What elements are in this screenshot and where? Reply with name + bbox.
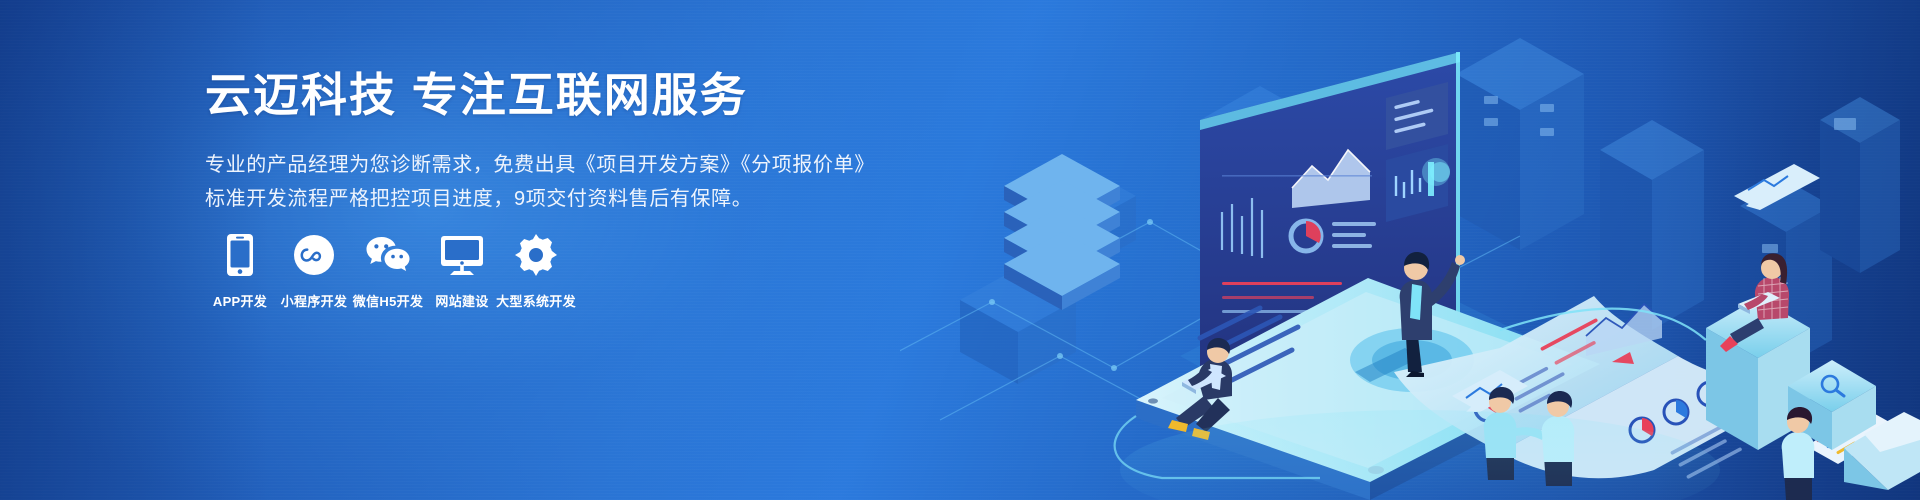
server-stack xyxy=(1004,154,1120,310)
subtitle-line-1: 专业的产品经理为您诊断需求，免费出具《项目开发方案》《分项报价单》 xyxy=(205,150,965,181)
mini-program-icon xyxy=(294,232,334,278)
service-label: 大型系统开发 xyxy=(496,294,576,310)
service-label: 小程序开发 xyxy=(281,294,348,310)
service-label: 网站建设 xyxy=(435,294,488,310)
service-item-website[interactable]: 网站建设 xyxy=(425,232,499,310)
wechat-icon xyxy=(365,232,411,278)
service-label: 微信H5开发 xyxy=(353,294,423,310)
isometric-tech-illustration xyxy=(900,0,1920,500)
service-item-wechat-h5[interactable]: 微信H5开发 xyxy=(351,232,425,310)
banner-copy: 云迈科技 专注互联网服务 专业的产品经理为您诊断需求，免费出具《项目开发方案》《… xyxy=(205,66,965,215)
subtitle-line-2: 标准开发流程严格把控项目进度，9项交付资料售后有保障。 xyxy=(205,184,965,215)
service-item-app[interactable]: APP开发 xyxy=(203,232,277,310)
monitor-icon xyxy=(440,232,484,278)
service-item-miniprogram[interactable]: 小程序开发 xyxy=(277,232,351,310)
gear-icon xyxy=(515,232,557,278)
service-label: APP开发 xyxy=(213,294,267,310)
mobile-phone-icon xyxy=(227,232,253,278)
page-title: 云迈科技 专注互联网服务 xyxy=(205,66,965,124)
service-item-large-system[interactable]: 大型系统开发 xyxy=(499,232,573,310)
hero-banner: 云迈科技 专注互联网服务 专业的产品经理为您诊断需求，免费出具《项目开发方案》《… xyxy=(0,0,1920,500)
service-list: APP开发 小程序开发 微信 xyxy=(203,232,573,310)
